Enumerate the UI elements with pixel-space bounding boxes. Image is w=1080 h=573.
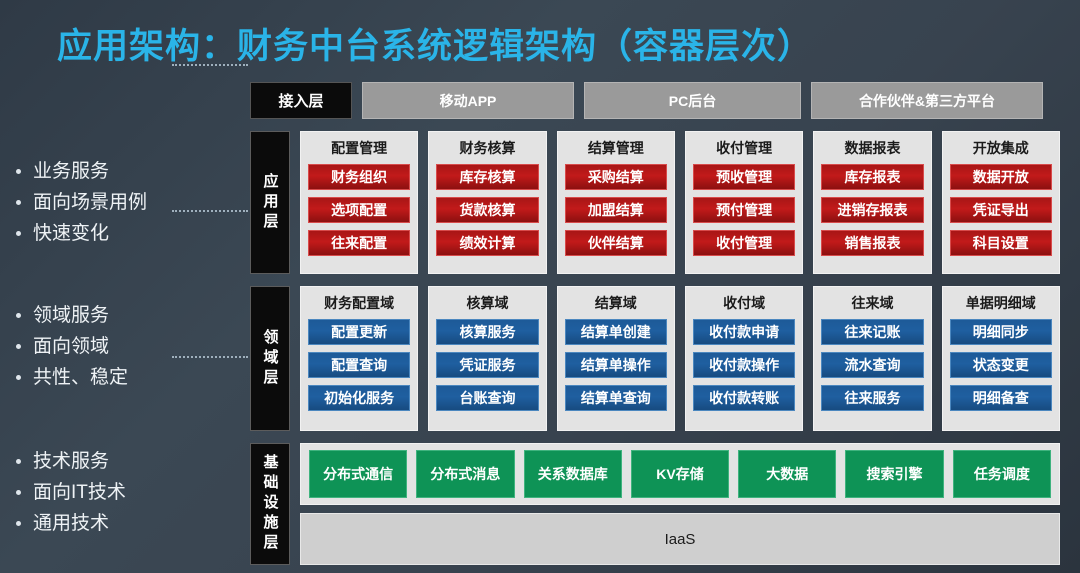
access-item-pc-backend[interactable]: PC后台 [584,82,801,119]
column-title: 开放集成 [973,138,1029,158]
bullet-icon [16,313,21,318]
bullet-icon [16,521,21,526]
annotation-text: 领域服务 [33,306,109,325]
domain-column-document-detail: 单据明细域 明细同步 状态变更 明细备查 [942,286,1060,431]
domain-chip[interactable]: 明细同步 [950,319,1052,345]
annotation-text: 面向场景用例 [33,193,147,212]
app-chip[interactable]: 凭证导出 [950,197,1052,223]
domain-chip[interactable]: 核算服务 [436,319,538,345]
access-item-mobile-app[interactable]: 移动APP [362,82,574,119]
annotation-text: 快速变化 [33,224,109,243]
annotation-line: 面向IT技术 [8,483,248,502]
column-title: 收付管理 [716,138,772,158]
column-title: 数据报表 [844,138,900,158]
app-chip[interactable]: 科目设置 [950,230,1052,256]
annotation-group-business: 业务服务 面向场景用例 快速变化 [8,162,248,255]
column-title: 收付域 [723,293,765,313]
annotation-line: 技术服务 [8,452,248,471]
app-chip[interactable]: 库存核算 [436,164,538,190]
app-chip[interactable]: 预付管理 [693,197,795,223]
iaas-bar: IaaS [300,513,1060,565]
bullet-icon [16,375,21,380]
annotation-line: 通用技术 [8,514,248,533]
app-chip[interactable]: 绩效计算 [436,230,538,256]
app-column-accounting: 财务核算 库存核算 货款核算 绩效计算 [428,131,546,274]
domain-layer: 领域层 财务配置域 配置更新 配置查询 初始化服务 核算域 核算服务 凭证服务 … [250,286,1060,431]
annotation-line: 业务服务 [8,162,248,181]
domain-layer-columns: 财务配置域 配置更新 配置查询 初始化服务 核算域 核算服务 凭证服务 台账查询… [300,286,1060,431]
column-title: 往来域 [851,293,893,313]
domain-chip[interactable]: 明细备查 [950,385,1052,411]
application-layer-tag: 应用层 [250,131,290,274]
page-title: 应用架构：财务中台系统逻辑架构（容器层次） [57,18,813,69]
domain-chip[interactable]: 台账查询 [436,385,538,411]
domain-column-payment: 收付域 收付款申请 收付款操作 收付款转账 [685,286,803,431]
annotation-line: 面向领域 [8,337,248,356]
domain-chip[interactable]: 状态变更 [950,352,1052,378]
bullet-icon [16,459,21,464]
bullet-icon [16,490,21,495]
domain-chip[interactable]: 收付款操作 [693,352,795,378]
connector-line-domain [172,210,248,213]
app-chip[interactable]: 往来配置 [308,230,410,256]
app-chip[interactable]: 收付管理 [693,230,795,256]
infra-chip[interactable]: 任务调度 [953,450,1051,498]
domain-chip[interactable]: 配置更新 [308,319,410,345]
connector-line-application [172,64,248,67]
annotation-text: 通用技术 [33,514,109,533]
app-chip[interactable]: 选项配置 [308,197,410,223]
column-title: 核算域 [466,293,508,313]
infra-chip[interactable]: 搜索引擎 [845,450,943,498]
infra-chip[interactable]: 分布式消息 [416,450,514,498]
connector-line-infrastructure [172,356,248,359]
app-chip[interactable]: 数据开放 [950,164,1052,190]
column-title: 结算管理 [588,138,644,158]
annotation-text: 技术服务 [33,452,109,471]
bullet-icon [16,169,21,174]
infra-chip[interactable]: 关系数据库 [524,450,622,498]
annotation-line: 快速变化 [8,224,248,243]
annotation-text: 业务服务 [33,162,109,181]
app-chip[interactable]: 销售报表 [821,230,923,256]
bullet-icon [16,344,21,349]
infrastructure-layer: 基础设施层 分布式通信 分布式消息 关系数据库 KV存储 大数据 搜索引擎 任务… [250,443,1060,565]
app-chip[interactable]: 库存报表 [821,164,923,190]
domain-chip[interactable]: 收付款申请 [693,319,795,345]
annotation-line: 领域服务 [8,306,248,325]
domain-chip[interactable]: 往来服务 [821,385,923,411]
infrastructure-services-row: 分布式通信 分布式消息 关系数据库 KV存储 大数据 搜索引擎 任务调度 [300,443,1060,505]
column-title: 单据明细域 [966,293,1036,313]
domain-column-finance-config: 财务配置域 配置更新 配置查询 初始化服务 [300,286,418,431]
annotation-group-technical: 技术服务 面向IT技术 通用技术 [8,452,248,545]
domain-chip[interactable]: 配置查询 [308,352,410,378]
domain-column-current-account: 往来域 往来记账 流水查询 往来服务 [813,286,931,431]
architecture-diagram: 应用架构：财务中台系统逻辑架构（容器层次） 接入层 移动APP PC后台 合作伙… [0,0,1080,573]
infra-chip[interactable]: 分布式通信 [309,450,407,498]
annotation-group-domain: 领域服务 面向领域 共性、稳定 [8,306,248,399]
infrastructure-body: 分布式通信 分布式消息 关系数据库 KV存储 大数据 搜索引擎 任务调度 Iaa… [300,443,1060,565]
app-column-config: 配置管理 财务组织 选项配置 往来配置 [300,131,418,274]
domain-chip[interactable]: 结算单查询 [565,385,667,411]
annotation-text: 共性、稳定 [33,368,128,387]
app-chip[interactable]: 加盟结算 [565,197,667,223]
domain-layer-tag: 领域层 [250,286,290,431]
access-layer-row: 接入层 移动APP PC后台 合作伙伴&第三方平台 [250,82,1060,119]
column-title: 配置管理 [331,138,387,158]
domain-chip[interactable]: 收付款转账 [693,385,795,411]
domain-chip[interactable]: 凭证服务 [436,352,538,378]
access-layer-tag: 接入层 [250,82,352,119]
app-column-settlement: 结算管理 采购结算 加盟结算 伙伴结算 [557,131,675,274]
access-item-partners[interactable]: 合作伙伴&第三方平台 [811,82,1043,119]
domain-chip[interactable]: 结算单操作 [565,352,667,378]
app-chip[interactable]: 财务组织 [308,164,410,190]
app-chip[interactable]: 进销存报表 [821,197,923,223]
application-layer: 应用层 配置管理 财务组织 选项配置 往来配置 财务核算 库存核算 货款核算 绩… [250,131,1060,274]
domain-chip[interactable]: 往来记账 [821,319,923,345]
app-column-integration: 开放集成 数据开放 凭证导出 科目设置 [942,131,1060,274]
app-chip[interactable]: 货款核算 [436,197,538,223]
annotation-text: 面向IT技术 [33,483,126,502]
infra-chip[interactable]: 大数据 [738,450,836,498]
domain-chip[interactable]: 初始化服务 [308,385,410,411]
app-chip[interactable]: 预收管理 [693,164,795,190]
column-title: 财务配置域 [324,293,394,313]
annotation-line: 共性、稳定 [8,368,248,387]
domain-chip[interactable]: 结算单创建 [565,319,667,345]
column-title: 财务核算 [459,138,515,158]
domain-chip[interactable]: 流水查询 [821,352,923,378]
app-column-reports: 数据报表 库存报表 进销存报表 销售报表 [813,131,931,274]
infra-chip[interactable]: KV存储 [631,450,729,498]
column-title: 结算域 [595,293,637,313]
app-chip[interactable]: 伙伴结算 [565,230,667,256]
bullet-icon [16,200,21,205]
bullet-icon [16,231,21,236]
domain-column-accounting: 核算域 核算服务 凭证服务 台账查询 [428,286,546,431]
app-column-payment: 收付管理 预收管理 预付管理 收付管理 [685,131,803,274]
application-layer-columns: 配置管理 财务组织 选项配置 往来配置 财务核算 库存核算 货款核算 绩效计算 … [300,131,1060,274]
infrastructure-layer-tag: 基础设施层 [250,443,290,565]
domain-column-settlement: 结算域 结算单创建 结算单操作 结算单查询 [557,286,675,431]
app-chip[interactable]: 采购结算 [565,164,667,190]
annotation-text: 面向领域 [33,337,109,356]
